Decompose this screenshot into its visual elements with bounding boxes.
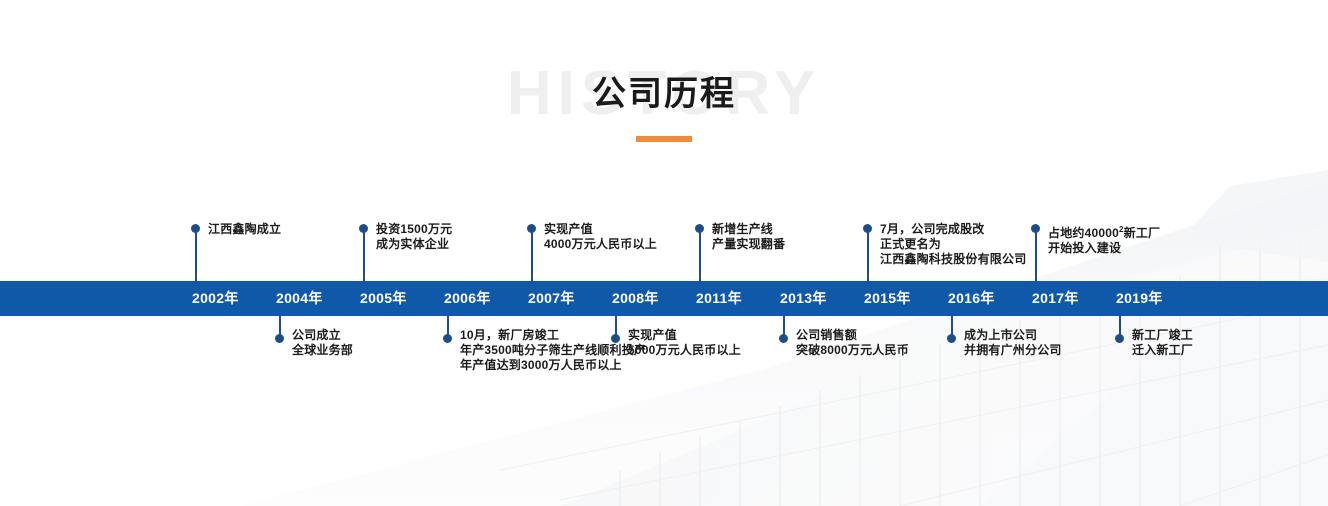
event-caption-line: 实现产值 (628, 328, 741, 343)
event-marker-dot[interactable] (611, 334, 620, 343)
year-label: 2019年 (1116, 288, 1163, 308)
event-marker-dot[interactable] (191, 224, 200, 233)
event-connector-stem (867, 232, 869, 282)
event-marker-dot[interactable] (947, 334, 956, 343)
year-label: 2015年 (864, 288, 911, 308)
event-caption-line: 新增生产线 (712, 222, 785, 237)
event-caption-line: 成为上市公司 (964, 328, 1062, 343)
year-label: 2008年 (612, 288, 659, 308)
event-caption-line: 4000万元人民币以上 (544, 237, 657, 252)
event-caption-line: 年产3500吨分子筛生产线顺利投产 (460, 343, 646, 358)
year-label: 2007年 (528, 288, 575, 308)
event-caption-line: 5000万元人民币以上 (628, 343, 741, 358)
event-caption: 实现产值4000万元人民币以上 (544, 222, 657, 252)
event-connector-stem (363, 232, 365, 282)
event-caption-line: 全球业务部 (292, 343, 353, 358)
event-caption-line: 突破8000万元人民币 (796, 343, 909, 358)
event-connector-stem (531, 232, 533, 282)
year-label: 2005年 (360, 288, 407, 308)
event-caption-line: 成为实体企业 (376, 237, 452, 252)
year-label: 2002年 (192, 288, 239, 308)
year-label: 2017年 (1032, 288, 1079, 308)
event-marker-dot[interactable] (779, 334, 788, 343)
event-caption-line: 占地约400002新工厂 (1048, 222, 1160, 241)
event-caption-line: 正式更名为 (880, 237, 1026, 252)
event-caption-line: 江西鑫陶科技股份有限公司 (880, 252, 1026, 267)
event-caption-line: 公司销售额 (796, 328, 909, 343)
year-label: 2006年 (444, 288, 491, 308)
event-caption: 公司销售额突破8000万元人民币 (796, 328, 909, 358)
event-caption-line: 实现产值 (544, 222, 657, 237)
page-title: 公司历程 (0, 58, 1328, 130)
event-caption: 公司成立全球业务部 (292, 328, 353, 358)
event-marker-dot[interactable] (275, 334, 284, 343)
event-marker-dot[interactable] (1115, 334, 1124, 343)
event-caption-line: 7月，公司完成股改 (880, 222, 1026, 237)
event-caption-line: 并拥有广州分公司 (964, 343, 1062, 358)
event-caption: 江西鑫陶成立 (208, 222, 281, 237)
event-connector-stem (1035, 232, 1037, 282)
event-caption-line: 产量实现翻番 (712, 237, 785, 252)
year-label: 2004年 (276, 288, 323, 308)
event-marker-dot[interactable] (359, 224, 368, 233)
event-caption: 实现产值5000万元人民币以上 (628, 328, 741, 358)
event-caption-line: 公司成立 (292, 328, 353, 343)
event-caption-line: 开始投入建设 (1048, 241, 1160, 256)
event-connector-stem (699, 232, 701, 282)
event-marker-dot[interactable] (443, 334, 452, 343)
page-header: HISTORY 公司历程 (0, 58, 1328, 130)
event-caption-line: 迁入新工厂 (1132, 343, 1193, 358)
event-caption: 7月，公司完成股改正式更名为江西鑫陶科技股份有限公司 (880, 222, 1026, 267)
year-label: 2013年 (780, 288, 827, 308)
event-caption-line: 江西鑫陶成立 (208, 222, 281, 237)
event-caption: 新增生产线产量实现翻番 (712, 222, 785, 252)
year-label: 2011年 (696, 288, 742, 308)
event-marker-dot[interactable] (863, 224, 872, 233)
event-marker-dot[interactable] (695, 224, 704, 233)
event-marker-dot[interactable] (1031, 224, 1040, 233)
title-underline-accent (636, 136, 692, 142)
event-connector-stem (195, 232, 197, 282)
event-marker-dot[interactable] (527, 224, 536, 233)
event-caption: 新工厂竣工迁入新工厂 (1132, 328, 1193, 358)
event-caption-line: 年产值达到3000万人民币以上 (460, 358, 646, 373)
history-timeline-page: HISTORY 公司历程 2002年2004年2005年2006年2007年20… (0, 0, 1328, 506)
year-label: 2016年 (948, 288, 995, 308)
event-caption-line: 投资1500万元 (376, 222, 452, 237)
event-caption: 占地约400002新工厂开始投入建设 (1048, 222, 1160, 256)
event-caption: 投资1500万元成为实体企业 (376, 222, 452, 252)
event-caption: 成为上市公司并拥有广州分公司 (964, 328, 1062, 358)
event-caption-line: 新工厂竣工 (1132, 328, 1193, 343)
